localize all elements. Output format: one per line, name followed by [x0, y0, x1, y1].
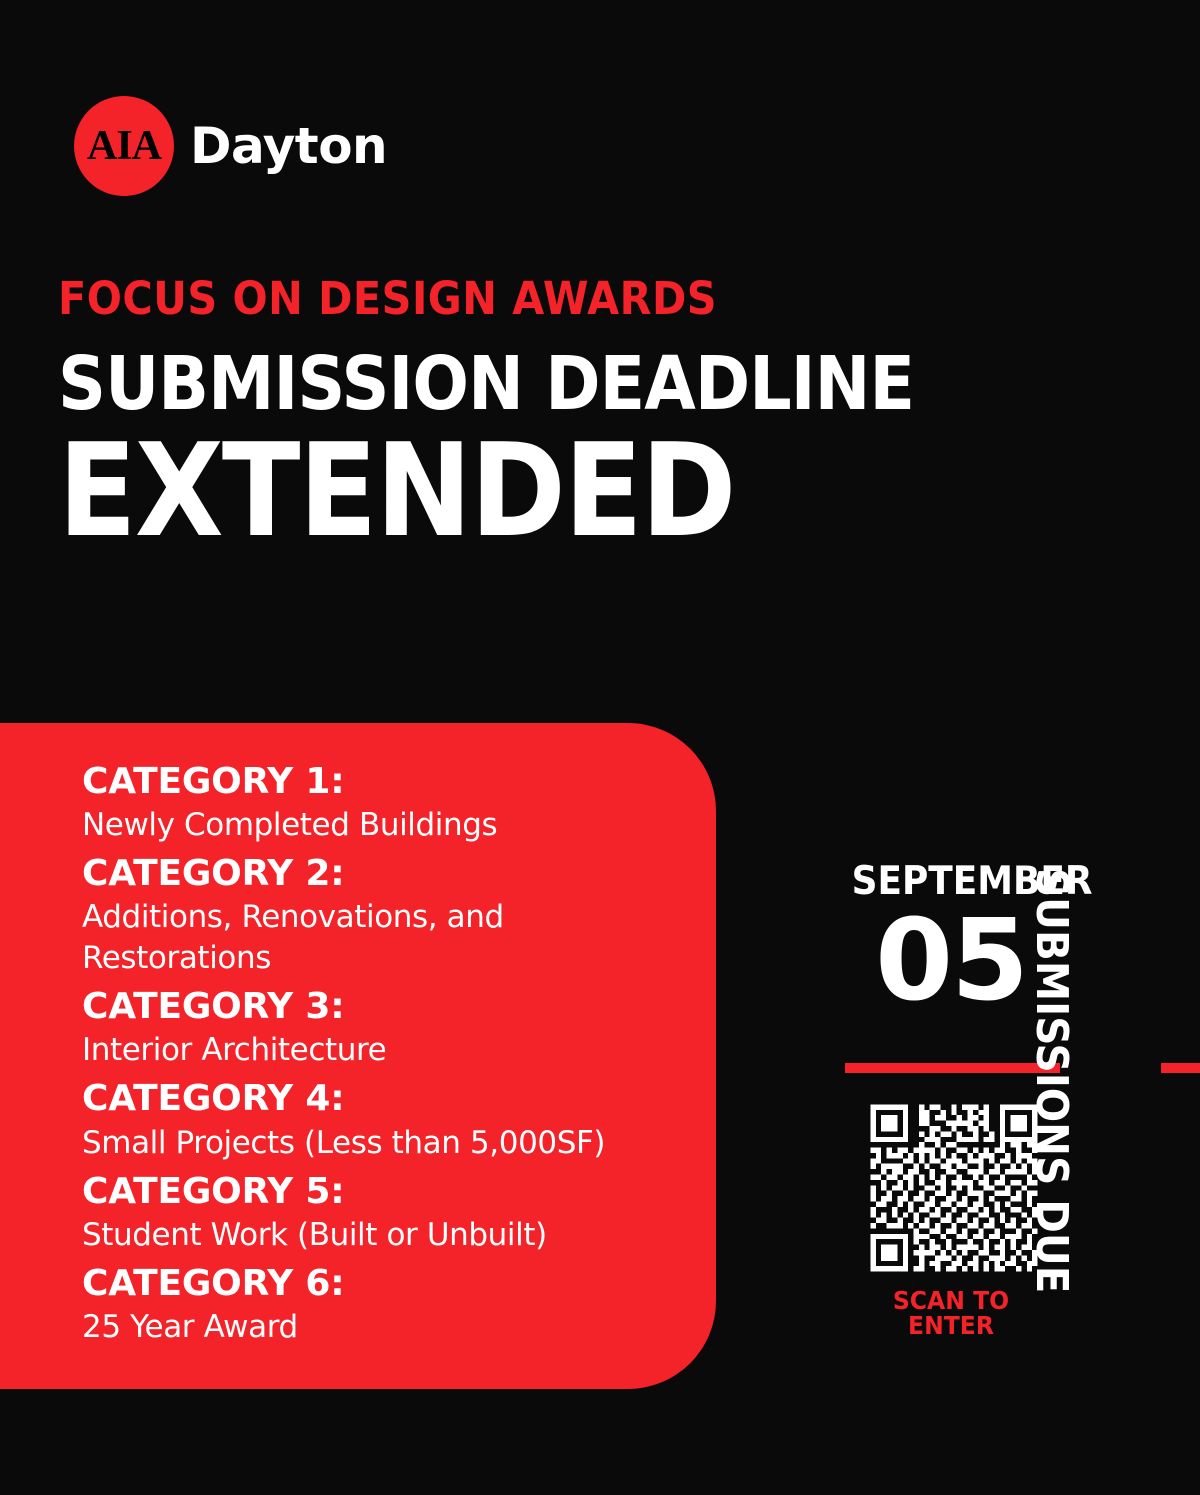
category-title: CATEGORY 4: [82, 1076, 676, 1122]
awards-eyebrow: FOCUS ON DESIGN AWARDS [58, 276, 886, 321]
headline-line-2: EXTENDED [58, 427, 868, 558]
category-description: Additions, Renovations, and Restorations [82, 897, 676, 978]
divider-rule-right [1161, 1063, 1200, 1073]
chapter-name: Dayton [190, 121, 387, 171]
headline-line-1: SUBMISSION DEADLINE [58, 347, 868, 421]
categories-panel: CATEGORY 1: Newly Completed Buildings CA… [0, 723, 716, 1389]
submissions-due-text: SUBMISSIONS DUE [1029, 868, 1073, 1300]
category-title: CATEGORY 6: [82, 1261, 676, 1307]
aia-logo-icon: AIA [74, 96, 174, 196]
category-item: CATEGORY 6: 25 Year Award [82, 1261, 676, 1347]
category-title: CATEGORY 2: [82, 851, 676, 897]
category-description: 25 Year Award [82, 1307, 676, 1347]
category-item: CATEGORY 3: Interior Architecture [82, 984, 676, 1070]
category-item: CATEGORY 1: Newly Completed Buildings [82, 759, 676, 845]
category-title: CATEGORY 5: [82, 1169, 676, 1215]
category-description: Student Work (Built or Unbuilt) [82, 1215, 676, 1255]
category-title: CATEGORY 1: [82, 759, 676, 805]
category-description: Newly Completed Buildings [82, 805, 676, 845]
category-item: CATEGORY 2: Additions, Renovations, and … [82, 851, 676, 978]
category-item: CATEGORY 4: Small Projects (Less than 5,… [82, 1076, 676, 1162]
category-item: CATEGORY 5: Student Work (Built or Unbui… [82, 1169, 676, 1255]
aia-dayton-logo: AIA Dayton [74, 96, 387, 196]
poster-canvas: 2025 AIA Dayton FOCUS ON DESIGN AWARDS S… [0, 0, 1200, 1495]
category-title: CATEGORY 3: [82, 984, 676, 1030]
headline-block: FOCUS ON DESIGN AWARDS SUBMISSION DEADLI… [58, 276, 958, 558]
aia-logo-text: AIA [87, 125, 161, 167]
category-description: Interior Architecture [82, 1030, 676, 1070]
submissions-due-vertical: SUBMISSIONS DUE [1017, 868, 1073, 1338]
category-description: Small Projects (Less than 5,000SF) [82, 1123, 676, 1163]
